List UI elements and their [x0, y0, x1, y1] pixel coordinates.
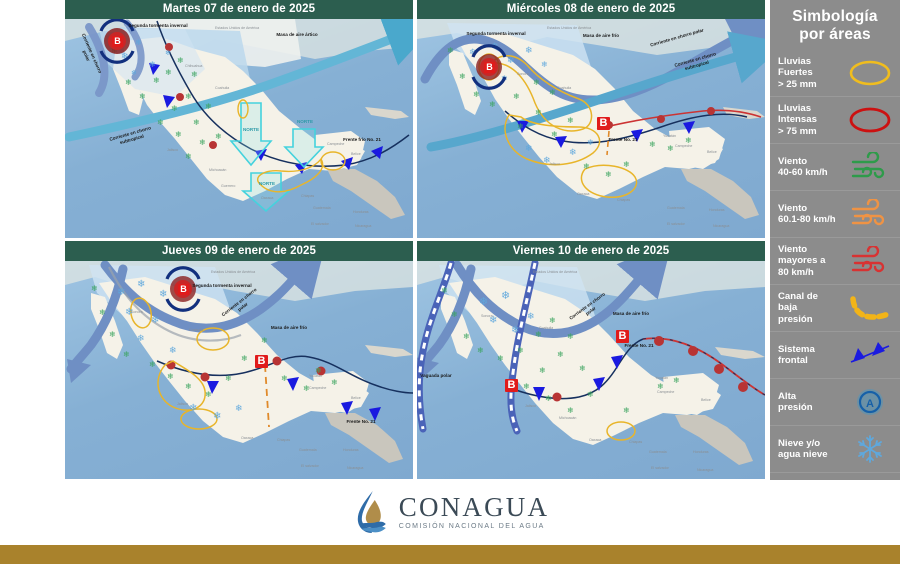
footer: CONAGUA COMISIÓN NACIONAL DEL AGUA [0, 480, 900, 545]
panel-title-jueves: Jueves 09 de enero de 2025 [65, 241, 413, 261]
svg-text:Honduras: Honduras [693, 450, 709, 454]
svg-text:❄: ❄ [459, 72, 466, 81]
svg-text:❄: ❄ [523, 382, 530, 391]
high-pressure-icon: A [846, 383, 894, 421]
svg-text:Honduras: Honduras [709, 208, 725, 212]
svg-text:❄: ❄ [159, 289, 167, 300]
legend-label-canal-baja-presion: Canal de baja presión [778, 291, 818, 326]
map-martes[interactable]: ❄ ❄ ❄ ❄ ❄ ❄ ❄ ❄ ❄ ❄ ❄ ❄ [65, 19, 413, 238]
svg-text:Oaxaca: Oaxaca [241, 436, 253, 440]
legend-panel: Simbología por áreas Lluvias Fuertes > 2… [770, 0, 900, 480]
svg-text:❄: ❄ [557, 350, 564, 359]
svg-text:Michoacán: Michoacán [209, 168, 226, 172]
svg-text:Estados Unidos de América: Estados Unidos de América [215, 26, 259, 30]
svg-text:❄: ❄ [579, 364, 586, 373]
legend-label-lluvias-intensas: Lluvias Intensas > 75 mm [778, 103, 817, 138]
svg-text:Chiapas: Chiapas [301, 194, 314, 198]
svg-text:❄: ❄ [205, 390, 212, 399]
svg-text:Belice: Belice [707, 150, 717, 154]
low-pressure-marker-jueves: B [178, 284, 189, 295]
legend-label-viento-40-60: Viento 40-60 km/h [778, 156, 828, 179]
svg-text:Oaxaca: Oaxaca [577, 192, 589, 196]
legend-label-lluvias-fuertes: Lluvias Fuertes > 25 mm [778, 56, 817, 91]
svg-text:❄: ❄ [479, 296, 488, 308]
svg-text:Coahuila: Coahuila [539, 326, 553, 330]
svg-text:❄: ❄ [567, 332, 574, 341]
svg-text:❄: ❄ [193, 118, 200, 127]
wind-green-icon [846, 148, 894, 186]
svg-text:❄: ❄ [583, 162, 590, 171]
svg-text:❄: ❄ [473, 90, 480, 99]
legend-label-alta-presion: Alta presión [778, 391, 813, 414]
legend-item-lluvias-intensas[interactable]: Lluvias Intensas > 75 mm [770, 96, 900, 143]
infographic-root: Martes 07 de enero de 2025 [0, 0, 900, 564]
svg-text:Guatemala: Guatemala [313, 206, 331, 210]
svg-text:Jalisco: Jalisco [525, 404, 536, 408]
conagua-water-drop-icon [351, 488, 391, 536]
legend-item-nieve[interactable]: Nieve y/o agua nieve [770, 425, 900, 472]
svg-text:❄: ❄ [549, 88, 556, 97]
low-pressure-marker-2-viernes: B [505, 379, 518, 392]
svg-text:❄: ❄ [673, 376, 680, 385]
svg-text:❄: ❄ [511, 325, 519, 336]
svg-text:Jalisco: Jalisco [167, 148, 178, 152]
svg-text:Sonora: Sonora [481, 314, 493, 318]
map-miercoles[interactable]: ❄ ❄ ❄ ❄ ❄ ❄ ❄ ❄ ❄ ❄ ❄ ❄ ❄ [417, 19, 765, 238]
panel-title-viernes: Viernes 10 de enero de 2025 [417, 241, 765, 261]
svg-text:Guatemala: Guatemala [667, 206, 685, 210]
svg-text:Coahuila: Coahuila [215, 86, 229, 90]
svg-text:❄: ❄ [551, 130, 558, 139]
low-pressure-marker-front-miercoles: B [597, 117, 610, 130]
svg-text:El salvador: El salvador [667, 222, 686, 226]
svg-text:Estados Unidos de América: Estados Unidos de América [533, 270, 577, 274]
svg-text:Nicaragua: Nicaragua [697, 468, 713, 472]
label-norte-1-martes: NORTE [233, 127, 269, 133]
label-storm-miercoles: Segunda tormenta invernal [465, 31, 527, 37]
svg-text:A: A [866, 398, 874, 410]
label-storm-martes: Segunda tormenta invernal [127, 23, 189, 29]
svg-text:❄: ❄ [165, 68, 172, 77]
svg-text:❄: ❄ [137, 333, 145, 343]
svg-text:Honduras: Honduras [343, 448, 359, 452]
svg-text:❄: ❄ [153, 76, 160, 85]
svg-text:❄: ❄ [185, 382, 192, 391]
ellipse-red-icon [846, 101, 894, 139]
panel-martes[interactable]: Martes 07 de enero de 2025 [65, 0, 413, 238]
svg-text:❄: ❄ [191, 70, 198, 79]
svg-text:Chihuahua: Chihuahua [185, 64, 202, 68]
svg-text:❄: ❄ [549, 316, 556, 325]
svg-text:❄: ❄ [447, 46, 454, 55]
svg-text:Guerrero: Guerrero [221, 184, 235, 188]
trough-dashed-icon [846, 289, 894, 327]
legend-title-line2: por áreas [774, 26, 896, 44]
svg-text:Belice: Belice [701, 398, 711, 402]
svg-text:Yucatán: Yucatán [655, 376, 668, 380]
map-viernes[interactable]: ❄ ❄ ❄ ❄ ❄ ❄ ❄ ❄ ❄ ❄ ❄ ❄ ❄ [417, 261, 765, 479]
svg-text:❄: ❄ [281, 374, 288, 383]
conagua-logo-text: CONAGUA COMISIÓN NACIONAL DEL AGUA [399, 493, 549, 531]
svg-text:❄: ❄ [149, 360, 156, 369]
cold-front-icon [846, 336, 894, 374]
low-pressure-marker-1-viernes: B [616, 330, 629, 343]
svg-text:❄: ❄ [169, 345, 177, 355]
svg-text:❄: ❄ [525, 143, 533, 153]
svg-text:❄: ❄ [539, 366, 546, 375]
svg-text:❄: ❄ [623, 406, 630, 415]
panel-jueves[interactable]: Jueves 09 de enero de 2025 [65, 241, 413, 479]
svg-text:❄: ❄ [99, 308, 106, 317]
svg-text:❄: ❄ [125, 78, 132, 87]
svg-text:Nicaragua: Nicaragua [355, 224, 371, 228]
svg-text:Jalisco: Jalisco [549, 162, 560, 166]
svg-text:❄: ❄ [451, 310, 458, 319]
svg-text:Chiapas: Chiapas [277, 438, 290, 442]
panel-title-miercoles: Miércoles 08 de enero de 2025 [417, 0, 765, 19]
svg-text:❄: ❄ [199, 138, 206, 147]
svg-text:❄: ❄ [667, 144, 674, 153]
svg-text:❄: ❄ [137, 279, 145, 290]
svg-text:❄: ❄ [139, 92, 146, 101]
svg-text:El salvador: El salvador [651, 466, 670, 470]
legend-item-lluvias-fuertes[interactable]: Lluvias Fuertes > 25 mm [770, 50, 900, 96]
legend-title-line1: Simbología [774, 8, 896, 26]
wind-red-icon [846, 242, 894, 280]
svg-text:❄: ❄ [587, 138, 594, 147]
svg-text:❄: ❄ [533, 78, 540, 87]
panel-viernes[interactable]: Viernes 10 de enero de 2025 [417, 241, 765, 479]
svg-text:❄: ❄ [117, 287, 125, 298]
legend-label-viento-mayores-80: Viento mayores a 80 km/h [778, 244, 825, 279]
svg-text:❄: ❄ [185, 152, 192, 161]
svg-text:❄: ❄ [151, 315, 159, 326]
legend-label-viento-60-80: Viento 60.1-80 km/h [778, 203, 836, 226]
svg-text:Oaxaca: Oaxaca [589, 438, 601, 442]
svg-text:❄: ❄ [213, 411, 221, 422]
label-storm-jueves: Segunda tormenta invernal [191, 283, 253, 289]
maps-area: Martes 07 de enero de 2025 [65, 0, 765, 480]
low-pressure-marker-martes: B [112, 36, 123, 47]
panel-miercoles[interactable]: Miércoles 08 de enero de 2025 [417, 0, 765, 238]
bottom-gold-bar [0, 545, 900, 564]
svg-text:❄: ❄ [171, 104, 178, 113]
map-graphics-jueves: ❄ ❄ ❄ ❄ ❄ ❄ ❄ ❄ ❄ ❄ ❄ ❄ ❄ [65, 261, 413, 479]
legend-item-canal-baja-presion[interactable]: Canal de baja presión [770, 284, 900, 331]
svg-text:Belice: Belice [351, 152, 361, 156]
legend-item-sistema-frontal[interactable]: Sistema frontal [770, 331, 900, 378]
svg-text:❄: ❄ [535, 330, 542, 339]
legend-item-viento-60-80[interactable]: Viento 60.1-80 km/h [770, 190, 900, 237]
label-front-miercoles: Frente No. 21 [605, 137, 641, 143]
svg-text:❄: ❄ [545, 394, 552, 403]
panel-title-martes: Martes 07 de enero de 2025 [65, 0, 413, 19]
label-front-jueves: Frente No. 21 [343, 419, 379, 425]
svg-text:❄: ❄ [567, 116, 574, 125]
svg-text:❄: ❄ [91, 284, 98, 293]
svg-text:❄: ❄ [535, 108, 542, 117]
svg-text:❄: ❄ [489, 100, 496, 109]
low-pressure-marker-front-jueves: B [255, 355, 268, 368]
legend-item-alta-presion[interactable]: Alta presión A [770, 378, 900, 425]
svg-text:❄: ❄ [261, 336, 268, 345]
svg-text:Chiapas: Chiapas [629, 440, 642, 444]
wind-orange-icon [846, 195, 894, 233]
map-jueves[interactable]: ❄ ❄ ❄ ❄ ❄ ❄ ❄ ❄ ❄ ❄ ❄ ❄ ❄ [65, 261, 413, 479]
legend-rows: Lluvias Fuertes > 25 mm Lluvias Intensas… [770, 50, 900, 519]
label-front-martes: Frente frío No. 21 [337, 137, 387, 143]
svg-text:❄: ❄ [567, 406, 574, 415]
svg-text:❄: ❄ [205, 102, 212, 111]
svg-text:❄: ❄ [165, 49, 171, 57]
svg-text:❄: ❄ [225, 374, 232, 383]
label-trough-viernes: Vaguada polar [419, 373, 453, 379]
label-front-viernes: Frente No. 21 [621, 343, 657, 349]
svg-text:❄: ❄ [497, 354, 504, 363]
svg-text:❄: ❄ [587, 390, 594, 399]
legend-item-viento-40-60[interactable]: Viento 40-60 km/h [770, 143, 900, 190]
legend-label-sistema-frontal: Sistema frontal [778, 344, 815, 367]
conagua-tagline: COMISIÓN NACIONAL DEL AGUA [399, 522, 549, 531]
svg-text:Nicaragua: Nicaragua [347, 466, 363, 470]
svg-text:Guatemala: Guatemala [299, 448, 317, 452]
svg-text:❄: ❄ [149, 60, 156, 69]
svg-text:❄: ❄ [517, 122, 524, 131]
label-airmass-jueves: Masa de aire frío [253, 325, 325, 331]
svg-text:❄: ❄ [135, 38, 142, 47]
svg-text:❄: ❄ [477, 346, 484, 355]
svg-text:Sonora: Sonora [131, 310, 143, 314]
svg-text:❄: ❄ [131, 69, 137, 77]
svg-text:Campeche: Campeche [327, 142, 344, 146]
svg-text:❄: ❄ [241, 354, 248, 363]
svg-text:Campeche: Campeche [675, 144, 692, 148]
svg-text:❄: ❄ [177, 56, 184, 65]
svg-text:Jalisco: Jalisco [177, 402, 188, 406]
snowflake-icon [846, 430, 894, 468]
low-pressure-marker-miercoles: B [484, 62, 495, 73]
svg-text:❄: ❄ [507, 55, 515, 65]
svg-text:❄: ❄ [189, 403, 197, 414]
svg-text:Yucatán: Yucatán [663, 134, 676, 138]
svg-text:❄: ❄ [109, 330, 116, 339]
svg-text:Sonora: Sonora [517, 72, 529, 76]
svg-text:Michoacán: Michoacán [559, 416, 576, 420]
map-graphics-viernes: ❄ ❄ ❄ ❄ ❄ ❄ ❄ ❄ ❄ ❄ ❄ ❄ ❄ [417, 261, 765, 479]
svg-text:❄: ❄ [185, 92, 192, 101]
svg-text:❄: ❄ [501, 290, 510, 302]
svg-text:❄: ❄ [331, 378, 338, 387]
ellipse-yellow-icon [846, 54, 894, 92]
svg-text:Coahuila: Coahuila [557, 86, 571, 90]
svg-text:El salvador: El salvador [301, 464, 320, 468]
conagua-brand: CONAGUA [399, 493, 549, 521]
legend-label-nieve: Nieve y/o agua nieve [778, 438, 828, 461]
svg-text:❄: ❄ [649, 140, 656, 149]
label-norte-2-martes: NORTE [287, 119, 323, 125]
label-airmass-miercoles: Masa de aire frío [565, 33, 637, 39]
svg-text:Chiapas: Chiapas [617, 198, 630, 202]
svg-text:❄: ❄ [463, 332, 470, 341]
svg-text:❄: ❄ [525, 45, 533, 55]
svg-text:❄: ❄ [605, 170, 612, 179]
label-airmass-martes: Masa de aire ártico [257, 32, 337, 38]
svg-text:Guatemala: Guatemala [649, 450, 667, 454]
svg-text:Campeche: Campeche [309, 386, 326, 390]
svg-text:Yucatán: Yucatán [309, 374, 322, 378]
label-airmass-viernes: Masa de aire frío [595, 311, 667, 317]
svg-text:❄: ❄ [623, 160, 630, 169]
svg-text:Estados Unidos de América: Estados Unidos de América [211, 270, 255, 274]
svg-text:❄: ❄ [175, 130, 182, 139]
svg-text:❄: ❄ [215, 132, 222, 141]
svg-text:Campeche: Campeche [657, 390, 674, 394]
label-norte-3-martes: NORTE [249, 181, 285, 187]
svg-text:❄: ❄ [541, 60, 548, 69]
svg-text:Nicaragua: Nicaragua [713, 224, 729, 228]
svg-text:Estados Unidos de América: Estados Unidos de América [547, 26, 591, 30]
svg-text:❄: ❄ [527, 311, 535, 321]
svg-text:Honduras: Honduras [353, 210, 369, 214]
svg-text:❄: ❄ [441, 286, 448, 295]
conagua-logo: CONAGUA COMISIÓN NACIONAL DEL AGUA [351, 488, 549, 536]
svg-text:❄: ❄ [513, 92, 520, 101]
svg-text:Oaxaca: Oaxaca [261, 196, 273, 200]
svg-text:Belice: Belice [351, 396, 361, 400]
svg-text:❄: ❄ [123, 350, 130, 359]
svg-text:❄: ❄ [517, 346, 524, 355]
svg-text:❄: ❄ [167, 372, 174, 381]
svg-text:El salvador: El salvador [311, 222, 330, 226]
svg-text:Coahuila: Coahuila [189, 328, 203, 332]
svg-text:❄: ❄ [235, 403, 243, 413]
legend-title: Simbología por áreas [770, 0, 900, 50]
svg-text:❄: ❄ [569, 147, 577, 157]
legend-item-viento-mayores-80[interactable]: Viento mayores a 80 km/h [770, 237, 900, 284]
